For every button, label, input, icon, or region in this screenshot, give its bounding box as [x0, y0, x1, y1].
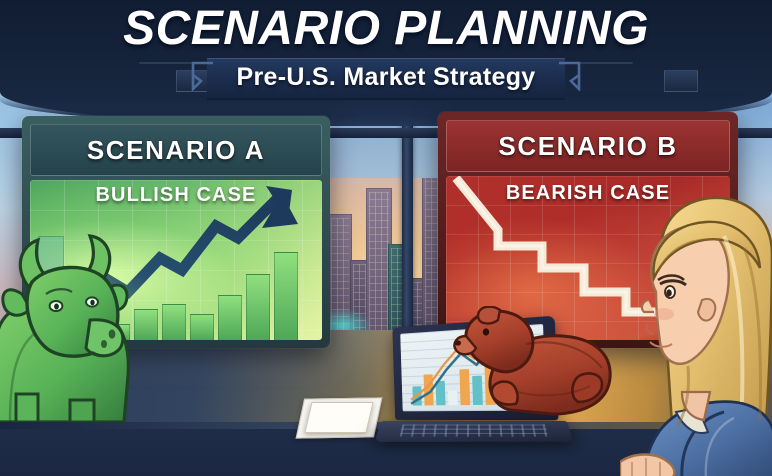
paper-sheet[interactable] — [304, 402, 373, 433]
ribbon-end-right-icon — [559, 61, 585, 91]
scenario-b-header: SCENARIO B — [446, 120, 730, 172]
scenario-a-label: SCENARIO A — [87, 135, 265, 166]
analyst-figure — [620, 196, 772, 476]
laptop-base[interactable] — [375, 421, 573, 442]
subtitle-ribbon: Pre-U.S. Market Strategy — [207, 58, 566, 100]
bear-icon — [452, 306, 618, 418]
title-block: SCENARIO PLANNING Pre-U.S. Market Strate… — [0, 2, 772, 108]
ribbon-end-left-icon — [187, 61, 213, 91]
bull-mascot — [0, 226, 154, 422]
bear-mascot — [452, 306, 618, 418]
scenario-a-sublabel: BULLISH CASE — [22, 184, 330, 207]
scenario-a-header: SCENARIO A — [30, 124, 322, 176]
analyst-icon — [620, 196, 772, 476]
scenario-planning-poster: SCENARIO A — [0, 0, 772, 476]
page-title: SCENARIO PLANNING — [0, 2, 772, 56]
scenario-b-sublabel: BEARISH CASE — [438, 182, 738, 205]
bull-icon — [0, 226, 154, 422]
scenario-b-label: SCENARIO B — [498, 131, 677, 162]
page-subtitle: Pre-U.S. Market Strategy — [237, 63, 536, 91]
laptop-keyboard[interactable] — [400, 424, 548, 436]
